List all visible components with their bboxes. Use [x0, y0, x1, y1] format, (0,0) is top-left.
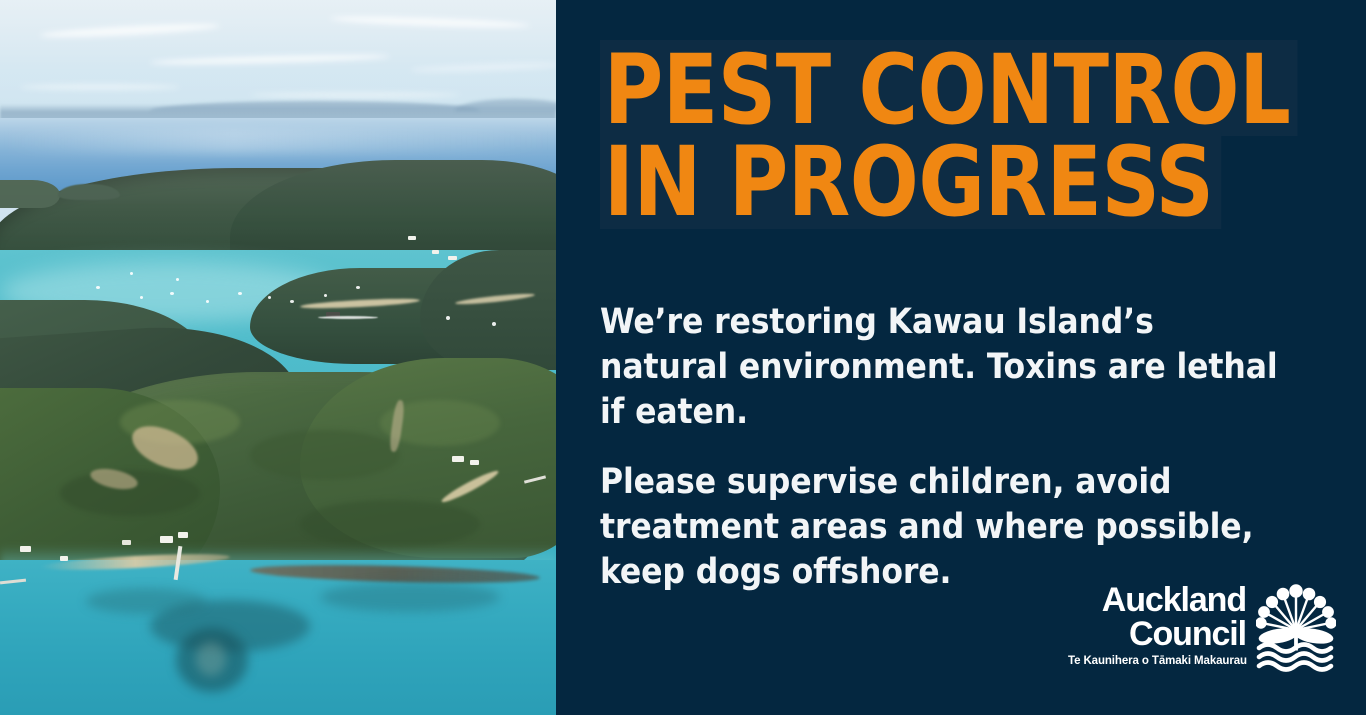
moored-boat — [356, 286, 360, 289]
submerged-reef — [320, 582, 500, 612]
cloud — [250, 92, 460, 98]
house — [408, 236, 416, 240]
auckland-council-logo: Auckland Council Te Kaunihera o Tāmaki M… — [1068, 578, 1336, 678]
page-title: PEST CONTROL IN PROGRESS — [600, 40, 1342, 229]
house — [470, 460, 479, 465]
islet — [58, 184, 120, 200]
body-copy: We’re restoring Kawau Island’s natural e… — [600, 300, 1290, 595]
moored-boat — [290, 300, 294, 303]
headline-row: PEST CONTROL — [600, 40, 1342, 136]
cloud — [20, 84, 180, 90]
house — [452, 456, 464, 462]
moored-boat — [268, 296, 271, 299]
house — [432, 250, 439, 254]
moored-boat — [96, 286, 100, 289]
logo-wordmark: Auckland Council Te Kaunihera o Tāmaki M… — [1068, 584, 1246, 668]
ocean-sun-glare — [0, 128, 556, 154]
moored-boat — [176, 278, 179, 281]
logo-tagline-maori: Te Kaunihera o Tāmaki Makaurau — [1068, 656, 1246, 668]
moored-boat — [130, 272, 133, 275]
bush-canopy — [250, 430, 400, 480]
submerged-reef — [86, 588, 206, 614]
headline-row: IN PROGRESS — [600, 132, 1342, 228]
moored-boat — [492, 322, 496, 326]
headline-line-2: IN PROGRESS — [600, 132, 1221, 228]
house — [448, 256, 457, 260]
logo-line-auckland: Auckland — [1068, 584, 1246, 617]
house — [122, 540, 131, 545]
moored-boat — [140, 296, 143, 299]
logo-line-council: Council — [1068, 618, 1246, 651]
house — [160, 536, 173, 543]
moored-boat — [170, 292, 174, 295]
body-paragraph-2: Please supervise children, avoid treatme… — [600, 460, 1290, 594]
moored-boat — [206, 300, 209, 303]
kawau-island-aerial-photo — [0, 0, 556, 715]
boat-wake — [318, 316, 378, 319]
submerged-reef — [196, 642, 226, 676]
headline-line-1: PEST CONTROL — [600, 40, 1298, 136]
auckland-council-pohutukawa-mark — [1256, 578, 1336, 674]
islet — [0, 180, 60, 208]
bush-canopy — [300, 500, 480, 548]
moored-boat — [324, 294, 327, 297]
house — [20, 546, 31, 552]
house — [178, 532, 188, 538]
moored-boat — [446, 316, 450, 320]
body-paragraph-1: We’re restoring Kawau Island’s natural e… — [600, 300, 1290, 434]
pest-control-poster: PEST CONTROL IN PROGRESS We’re restoring… — [0, 0, 1366, 715]
moored-boat — [238, 292, 242, 295]
house — [60, 556, 68, 561]
message-panel: PEST CONTROL IN PROGRESS We’re restoring… — [556, 0, 1366, 715]
